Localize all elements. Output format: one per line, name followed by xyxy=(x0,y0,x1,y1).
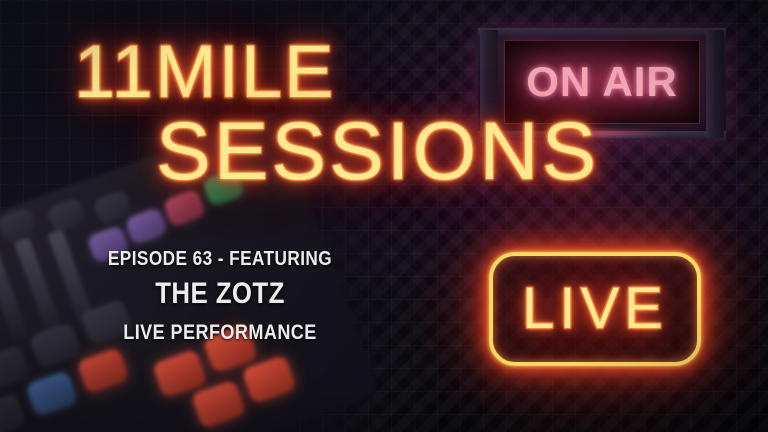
title-line-one: 11MILE xyxy=(74,36,768,107)
episode-info: EPISODE 63 - FEATURING THE ZOTZ LIVE PER… xyxy=(0,248,440,345)
live-badge-label: LIVE xyxy=(522,275,668,342)
episode-artist-name: THE ZOTZ xyxy=(31,277,409,311)
episode-subtitle: LIVE PERFORMANCE xyxy=(31,321,409,345)
thumbnail-canvas: ON AIR 11MILE SESSIONS EPISODE 63 - FEAT… xyxy=(0,0,768,432)
episode-featuring-line: EPISODE 63 - FEATURING xyxy=(31,248,409,271)
show-title: 11MILE SESSIONS xyxy=(0,36,768,192)
title-line-two: SESSIONS xyxy=(156,113,768,192)
live-badge[interactable]: LIVE xyxy=(489,252,701,366)
